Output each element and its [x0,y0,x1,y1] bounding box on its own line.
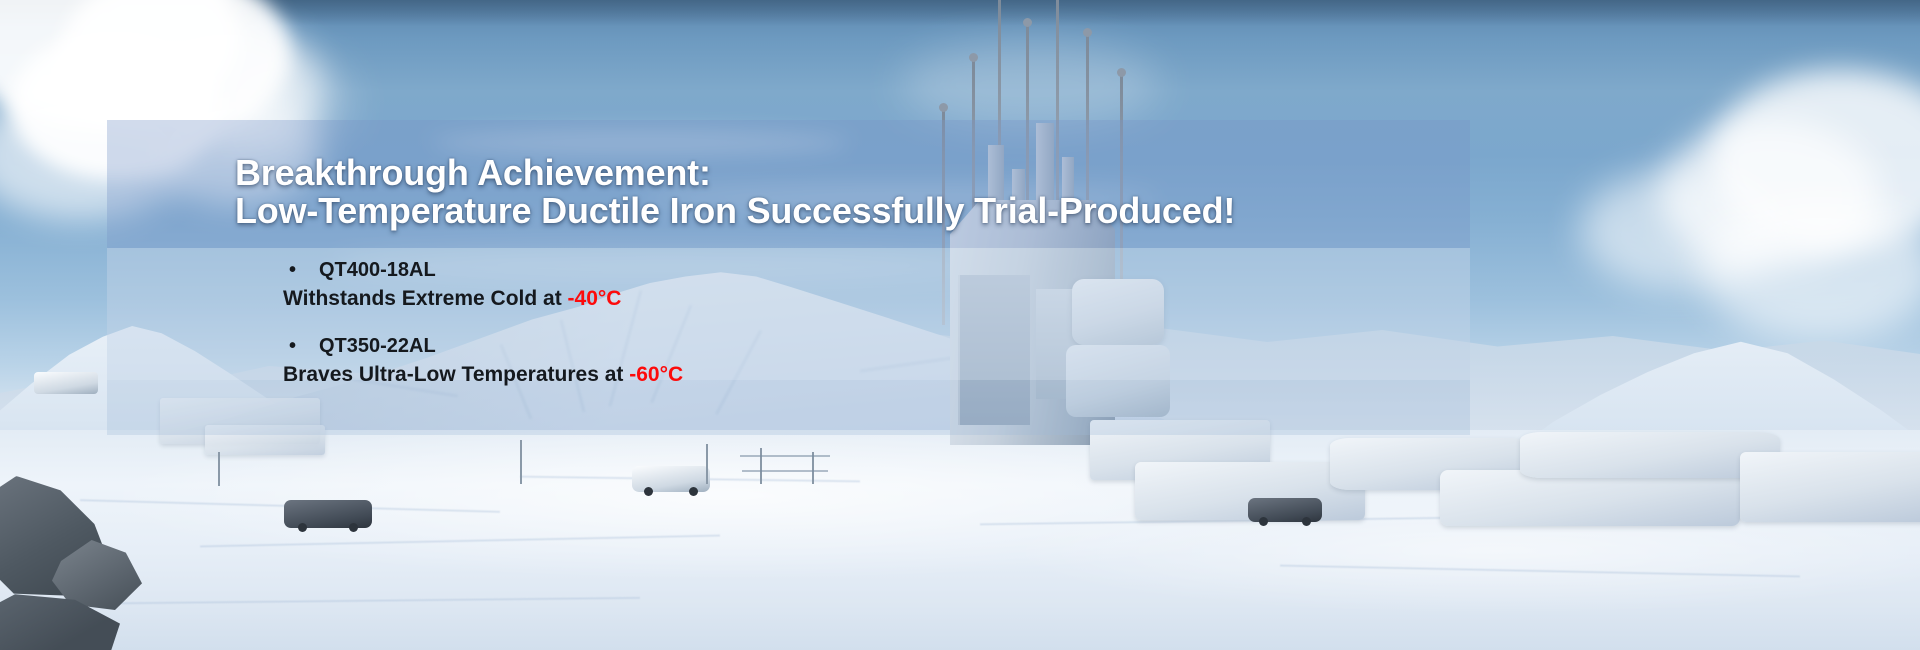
bullet-grade-row: • QT400-18AL [283,257,1183,284]
list-item: • QT350-22AL Braves Ultra-Low Temperatur… [283,333,1183,389]
bullet-dot-icon: • [289,333,296,360]
list-item: • QT400-18AL Withstands Extreme Cold at … [283,257,1183,313]
status-badge-temperature: -40°C [568,287,622,310]
bullet-description-text: Withstands Extreme Cold at [283,287,568,310]
bullet-grade-label: QT350-22AL [319,335,436,357]
bullet-dot-icon: • [289,257,296,284]
bullet-description-row: Withstands Extreme Cold at -40°C [283,284,1183,313]
bullet-grade-row: • QT350-22AL [283,333,1183,360]
bullet-grade-label: QT400-18AL [319,259,436,281]
bullet-description-row: Braves Ultra-Low Temperatures at -60°C [283,360,1183,389]
status-badge-temperature: -60°C [629,363,683,386]
sky-top-band [0,0,1920,26]
feature-list: • QT400-18AL Withstands Extreme Cold at … [283,257,1183,390]
headline-line-2: Low-Temperature Ductile Iron Successfull… [235,192,1475,230]
headline-line-1: Breakthrough Achievement: [235,152,711,193]
banner-stage: Breakthrough Achievement: Low-Temperatur… [0,0,1920,650]
bullet-description-text: Braves Ultra-Low Temperatures at [283,363,629,386]
page-title: Breakthrough Achievement: Low-Temperatur… [235,154,1475,230]
